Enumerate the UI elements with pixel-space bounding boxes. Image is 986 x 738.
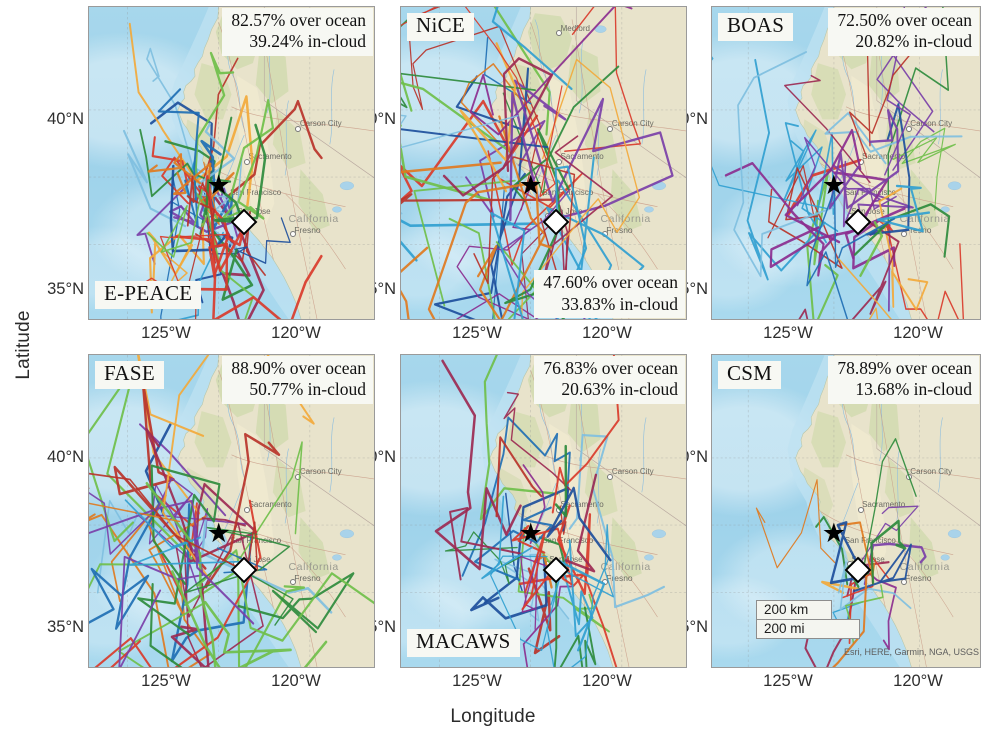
- campaign-label-nice: NiCE: [407, 13, 474, 41]
- flight-track: [401, 202, 534, 260]
- stats-box-epeace: 82.57% over ocean 39.24% in-cloud: [222, 8, 373, 56]
- y-tick-40n-row2: 40°N: [18, 448, 84, 467]
- campaign-label-macaws: MACAWS: [407, 629, 520, 657]
- x-tick-125w-col2-row1: 125°W: [437, 324, 517, 343]
- campaign-label-boas: BOAS: [718, 13, 793, 41]
- campaign-label-csm: CSM: [718, 361, 781, 389]
- in-cloud-pct: 13.68% in-cloud: [837, 379, 972, 400]
- flight-track: [871, 521, 905, 583]
- stats-box-macaws: 76.83% over ocean 20.63% in-cloud: [534, 356, 685, 404]
- in-cloud-pct: 33.83% in-cloud: [543, 294, 678, 315]
- over-ocean-pct: 78.89% over ocean: [837, 358, 972, 379]
- map-panel-epeace[interactable]: SacramentoSan FranciscoSan JoseFresnoCar…: [88, 6, 375, 320]
- over-ocean-pct: 88.90% over ocean: [231, 358, 366, 379]
- over-ocean-pct: 72.50% over ocean: [837, 10, 972, 31]
- y-tick-35n-row2: 35°N: [18, 618, 84, 637]
- flight-track: [401, 194, 551, 246]
- scalebar-mi: 200 mi: [756, 619, 860, 639]
- x-tick-120w-col3-row2: 120°W: [878, 672, 958, 691]
- flight-track: [878, 220, 964, 319]
- x-axis-title: Longitude: [0, 706, 986, 728]
- y-axis-title: Latitude: [13, 295, 35, 395]
- map-panel-csm[interactable]: SacramentoSan FranciscoSan JoseFresnoCar…: [711, 354, 981, 668]
- x-tick-125w-col2-row2: 125°W: [437, 672, 517, 691]
- flight-track: [401, 104, 518, 214]
- stats-box-csm: 78.89% over ocean 13.68% in-cloud: [828, 356, 979, 404]
- x-tick-120w-col1-row2: 120°W: [256, 672, 336, 691]
- map-panel-fase[interactable]: SacramentoSan FranciscoSan JoseFresnoCar…: [88, 354, 375, 668]
- map-panel-nice[interactable]: SacramentoSan FranciscoSan JoseFresnoCar…: [400, 6, 687, 320]
- over-ocean-pct: 82.57% over ocean: [231, 10, 366, 31]
- x-tick-120w-col1-row1: 120°W: [256, 324, 336, 343]
- x-tick-125w-col3-row1: 125°W: [748, 324, 828, 343]
- basemap-attribution: Esri, HERE, Garmin, NGA, USGS: [844, 647, 979, 657]
- scalebar-km: 200 km: [756, 600, 832, 620]
- x-tick-120w-col2-row1: 120°W: [567, 324, 647, 343]
- x-tick-125w-col1-row1: 125°W: [126, 324, 206, 343]
- stats-box-fase: 88.90% over ocean 50.77% in-cloud: [222, 356, 373, 404]
- scalebar: 200 km 200 mi: [756, 600, 860, 639]
- in-cloud-pct: 20.82% in-cloud: [837, 31, 972, 52]
- x-tick-120w-col3-row1: 120°W: [878, 324, 958, 343]
- x-tick-120w-col2-row2: 120°W: [567, 672, 647, 691]
- flight-track: [401, 83, 491, 200]
- flight-track: [504, 393, 570, 490]
- flight-track: [130, 24, 195, 178]
- flight-track: [153, 137, 188, 184]
- y-tick-40n-row1: 40°N: [18, 110, 84, 129]
- in-cloud-pct: 39.24% in-cloud: [231, 31, 366, 52]
- campaign-label-fase: FASE: [95, 361, 164, 389]
- over-ocean-pct: 76.83% over ocean: [543, 358, 678, 379]
- x-tick-125w-col1-row2: 125°W: [126, 672, 206, 691]
- in-cloud-pct: 50.77% in-cloud: [231, 379, 366, 400]
- over-ocean-pct: 47.60% over ocean: [543, 272, 678, 293]
- y-tick-35n-row1: 35°N: [18, 280, 84, 299]
- flight-track: [565, 7, 641, 151]
- stats-box-nice: 47.60% over ocean 33.83% in-cloud: [534, 270, 685, 318]
- stats-box-boas: 72.50% over ocean 20.82% in-cloud: [828, 8, 979, 56]
- map-panel-macaws[interactable]: SacramentoSan FranciscoSan JoseFresnoCar…: [400, 354, 687, 668]
- x-tick-125w-col3-row2: 125°W: [748, 672, 828, 691]
- map-panel-boas[interactable]: SacramentoSan FranciscoSan JoseFresnoCar…: [711, 6, 981, 320]
- in-cloud-pct: 20.63% in-cloud: [543, 379, 678, 400]
- campaign-label-epeace: E-PEACE: [95, 281, 201, 309]
